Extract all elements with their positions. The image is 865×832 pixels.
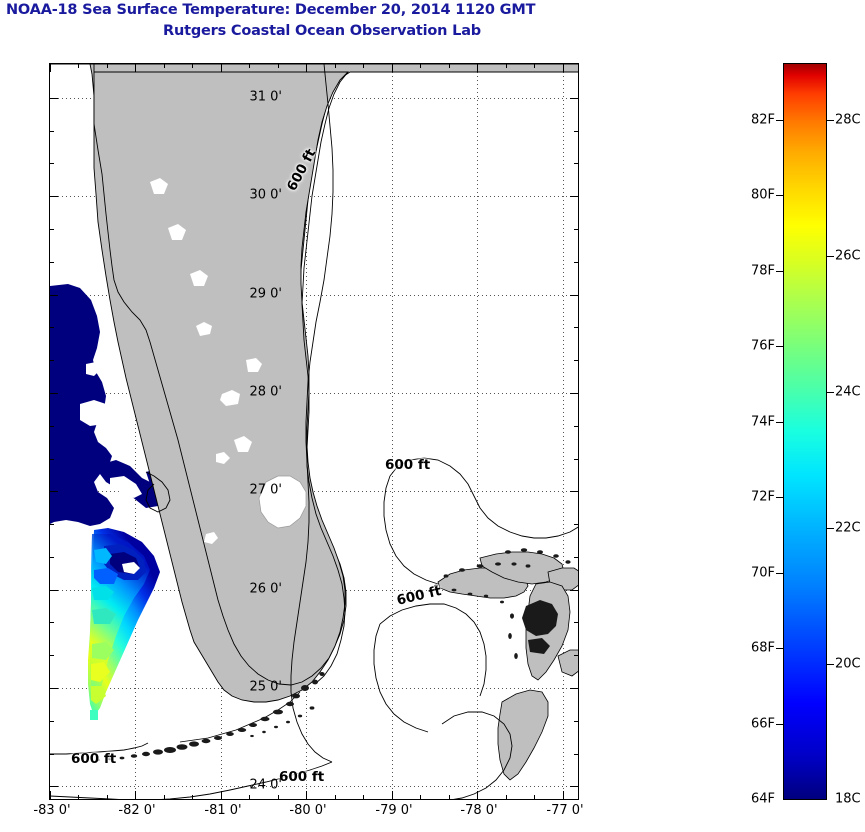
cb-tick-74f (776, 422, 783, 423)
tick-lon--82-20 (107, 795, 108, 800)
tick-right-lat-27 (570, 491, 579, 492)
tick-lon--78 (477, 791, 478, 800)
cb-tick-22c (827, 528, 834, 529)
tick-top-lon--77-40 (506, 63, 507, 68)
tick-right-lat-30 (570, 196, 579, 197)
coastline-contour-layer (50, 64, 578, 799)
lon-label--79: -79 0' (375, 803, 412, 818)
tick-lat-29-20 (49, 262, 54, 263)
tick-lon--81-20 (192, 795, 193, 800)
tick-top-lon--78-40 (420, 63, 421, 68)
map-clip: 600 ft 600 ft 600 ft 600 ft 600 ft (50, 64, 578, 799)
tick-lon--80-40 (249, 795, 250, 800)
tick-lon--81 (221, 791, 222, 800)
tick-right-lat-27-20 (574, 459, 579, 460)
tick-lon--79-40 (335, 795, 336, 800)
tick-top-lon--79-40 (335, 63, 336, 68)
lon-label--78: -78 0' (460, 803, 497, 818)
cb-label-20c: 20C (835, 657, 861, 672)
cb-label-72f: 72F (751, 490, 775, 505)
lat-label-28: 28 0' (249, 385, 282, 400)
cb-tick-78f (776, 271, 783, 272)
cb-tick-80f (776, 195, 783, 196)
tick-top-lon--77 (563, 63, 564, 72)
tick-right-lat-24 (570, 786, 579, 787)
colorbar-gradient[interactable] (783, 63, 827, 800)
cb-label-66f: 66F (751, 717, 775, 732)
cb-label-78f: 78F (751, 264, 775, 279)
tick-top-lon--82-40 (78, 63, 79, 68)
lon-label--80: -80 0' (289, 803, 326, 818)
lon-label--77: -77 0' (546, 803, 583, 818)
tick-lat-29-40 (49, 229, 54, 230)
tick-right-lat-24-20 (574, 754, 579, 755)
tick-lon--77 (563, 791, 564, 800)
cb-tick-66f (776, 724, 783, 725)
tick-lon--80-20 (278, 795, 279, 800)
tick-lat-24 (49, 786, 58, 787)
tick-top-lon--83 (50, 63, 51, 72)
tick-right-lat-26-20 (574, 557, 579, 558)
tick-top-lon--81 (221, 63, 222, 72)
tick-top-lon--80-40 (249, 63, 250, 68)
cb-label-22c: 22C (835, 521, 861, 536)
cb-label-24c: 24C (835, 385, 861, 400)
lat-label-24: 24 0' (249, 778, 282, 793)
tick-lat-28-20 (49, 360, 54, 361)
cb-label-18c: 18C (835, 792, 861, 807)
tick-right-lat-30-40 (574, 131, 579, 132)
tick-lat-27-20 (49, 459, 54, 460)
contour-label-600ft-bahamas-north: 600 ft (385, 457, 430, 473)
cb-tick-70f (776, 573, 783, 574)
cb-tick-28c (827, 120, 834, 121)
cb-label-80f: 80F (751, 188, 775, 203)
tick-top-lon--79 (392, 63, 393, 72)
cb-label-64f: 64F (751, 792, 775, 807)
map-plot-area[interactable]: 600 ft 600 ft 600 ft 600 ft 600 ft (49, 63, 579, 800)
tick-lon--81-40 (164, 795, 165, 800)
tick-lat-25-20 (49, 655, 54, 656)
tick-lon--79-20 (363, 795, 364, 800)
tick-right-lat-28-20 (574, 360, 579, 361)
tick-lat-29 (49, 295, 58, 296)
tick-top-lon--80-20 (278, 63, 279, 68)
tick-lat-24-20 (49, 754, 54, 755)
lon-label--83: -83 0' (33, 803, 70, 818)
tick-right-lat-30-20 (574, 163, 579, 164)
cb-tick-68f (776, 648, 783, 649)
tick-lon--79 (392, 791, 393, 800)
lat-label-30: 30 0' (249, 188, 282, 203)
tick-lon--82-40 (78, 795, 79, 800)
tick-right-lat-26 (570, 590, 579, 591)
tick-right-lat-28-40 (574, 327, 579, 328)
tick-lat-30-40 (49, 131, 54, 132)
cb-tick-24c (827, 392, 834, 393)
contour-label-600ft-south-center: 600 ft (279, 769, 324, 785)
tick-top-lon--77-20 (534, 63, 535, 68)
tick-right-lat-31 (570, 98, 579, 99)
cb-tick-82f (776, 120, 783, 121)
cb-label-26c: 26C (835, 249, 861, 264)
tick-top-lon--82 (135, 63, 136, 72)
tick-right-lat-24-40 (574, 721, 579, 722)
tick-lat-28 (49, 393, 58, 394)
tick-lat-24-40 (49, 721, 54, 722)
lat-label-25: 25 0' (249, 680, 282, 695)
page-subtitle: Rutgers Coastal Ocean Observation Lab (0, 21, 620, 42)
tick-top-lon--82-20 (107, 63, 108, 68)
tick-lat-25 (49, 688, 58, 689)
tick-top-lon--81-40 (164, 63, 165, 68)
cb-label-76f: 76F (751, 339, 775, 354)
tick-top-lon--78-20 (449, 63, 450, 68)
contour-label-600ft-southwest: 600 ft (71, 751, 116, 767)
tick-lat-28-40 (49, 327, 54, 328)
tick-right-lat-26-40 (574, 524, 579, 525)
lat-label-27: 27 0' (249, 483, 282, 498)
tick-right-lat-29-20 (574, 262, 579, 263)
tick-lon--80 (306, 791, 307, 800)
lat-label-29: 29 0' (249, 287, 282, 302)
tick-lat-31 (49, 98, 58, 99)
cb-tick-76f (776, 346, 783, 347)
tick-right-lat-25 (570, 688, 579, 689)
tick-lat-26 (49, 590, 58, 591)
tick-lat-27 (49, 491, 58, 492)
tick-right-lat-29-40 (574, 229, 579, 230)
tick-top-lon--78 (477, 63, 478, 72)
tick-lat-26-20 (49, 557, 54, 558)
tick-right-lat-25-20 (574, 655, 579, 656)
tick-lat-30 (49, 196, 58, 197)
tick-top-lon--79-20 (363, 63, 364, 68)
page-title: NOAA-18 Sea Surface Temperature: Decembe… (0, 0, 620, 21)
cb-tick-20c (827, 664, 834, 665)
tick-lon--78-40 (420, 795, 421, 800)
tick-lon--77-20 (534, 795, 535, 800)
tick-right-lat-28 (570, 393, 579, 394)
tick-lat-27-40 (49, 426, 54, 427)
tick-lon--83 (50, 791, 51, 800)
tick-lat-25-40 (49, 622, 54, 623)
cb-label-28c: 28C (835, 113, 861, 128)
cb-tick-72f (776, 497, 783, 498)
tick-right-lat-29 (570, 295, 579, 296)
tick-lat-30-20 (49, 163, 54, 164)
cb-label-74f: 74F (751, 415, 775, 430)
tick-lon--82 (135, 791, 136, 800)
lat-label-31: 31 0' (249, 90, 282, 105)
tick-top-lon--80 (306, 63, 307, 72)
lon-label--81: -81 0' (204, 803, 241, 818)
tick-lat-26-40 (49, 524, 54, 525)
tick-right-lat-25-40 (574, 622, 579, 623)
lat-label-26: 26 0' (249, 582, 282, 597)
cb-label-70f: 70F (751, 566, 775, 581)
tick-lon--78-20 (449, 795, 450, 800)
cb-label-82f: 82F (751, 113, 775, 128)
tick-top-lon--81-20 (192, 63, 193, 68)
cb-label-68f: 68F (751, 641, 775, 656)
title-block: NOAA-18 Sea Surface Temperature: Decembe… (0, 0, 620, 42)
tick-right-lat-27-40 (574, 426, 579, 427)
lon-label--82: -82 0' (118, 803, 155, 818)
tick-lon--77-40 (506, 795, 507, 800)
colorbar[interactable]: 82F 80F 78F 76F 74F 72F 70F 68F 66F 64F … (783, 63, 827, 800)
cb-tick-26c (827, 256, 834, 257)
